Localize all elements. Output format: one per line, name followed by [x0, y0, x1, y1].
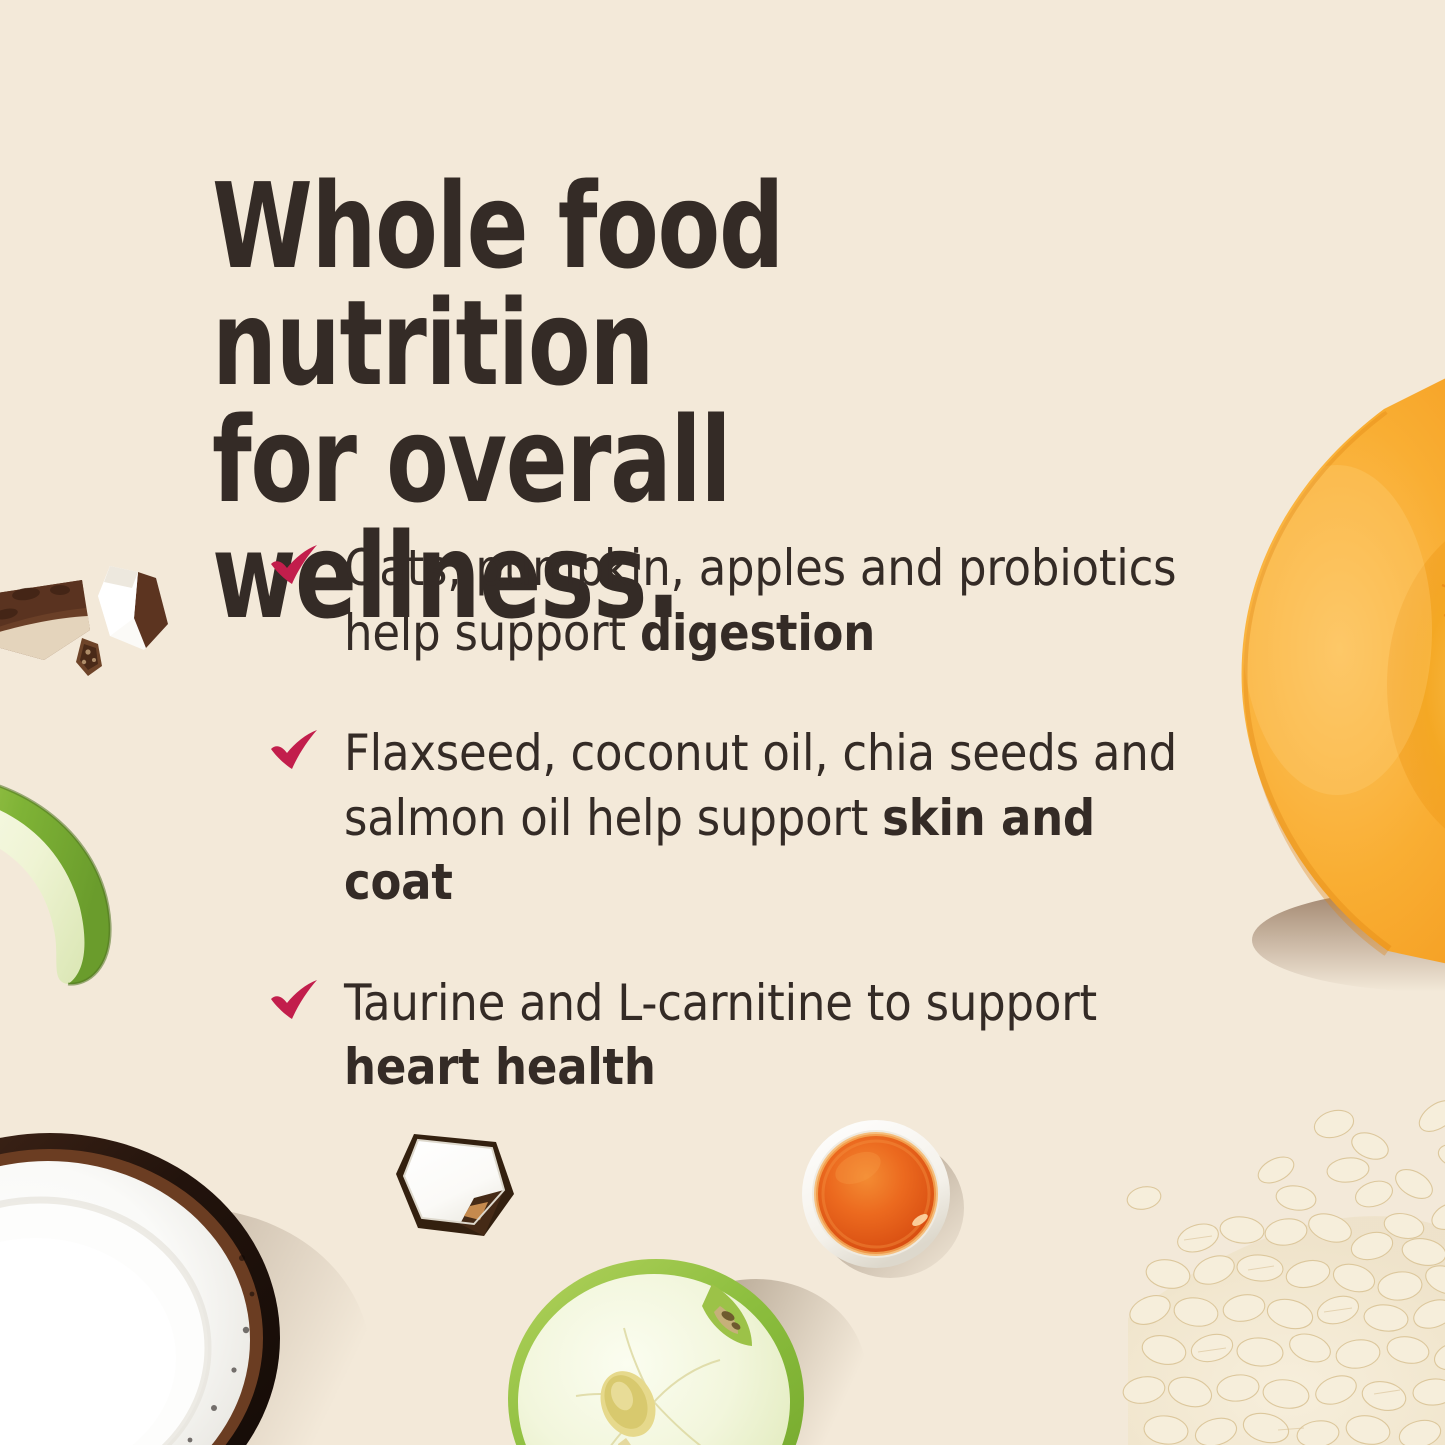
benefit-text: Oats, pumpkin, apples and probiotics hel…	[344, 539, 1176, 662]
benefit-emphasis: heart health	[344, 1038, 656, 1096]
list-item: Oats, pumpkin, apples and probiotics hel…	[268, 536, 1198, 665]
benefit-text: Flaxseed, coconut oil, chia seeds and sa…	[344, 724, 1177, 911]
benefit-text: Taurine and L-carnitine to support heart…	[344, 974, 1097, 1097]
apple-half-image	[506, 1254, 826, 1445]
benefit-lead: Taurine and L-carnitine to support	[344, 974, 1097, 1032]
coconut-chip-image	[72, 636, 106, 678]
apple-slice-image	[0, 772, 143, 987]
rolled-oats-image	[1138, 1098, 1445, 1445]
product-benefits-panel: Whole food nutrition for overall wellnes…	[0, 0, 1445, 1445]
pumpkin-half-image	[1192, 395, 1445, 975]
list-item: Taurine and L-carnitine to support heart…	[268, 971, 1198, 1100]
benefit-emphasis: digestion	[640, 604, 875, 662]
benefit-list: Oats, pumpkin, apples and probiotics hel…	[268, 536, 1198, 1100]
coconut-half-image	[0, 1108, 360, 1445]
salmon-oil-bowl-image	[798, 1116, 958, 1276]
check-icon	[268, 544, 320, 588]
list-item: Flaxseed, coconut oil, chia seeds and sa…	[268, 721, 1198, 915]
check-icon	[268, 979, 320, 1023]
coconut-chunk-image	[388, 1128, 520, 1246]
check-icon	[268, 729, 320, 773]
